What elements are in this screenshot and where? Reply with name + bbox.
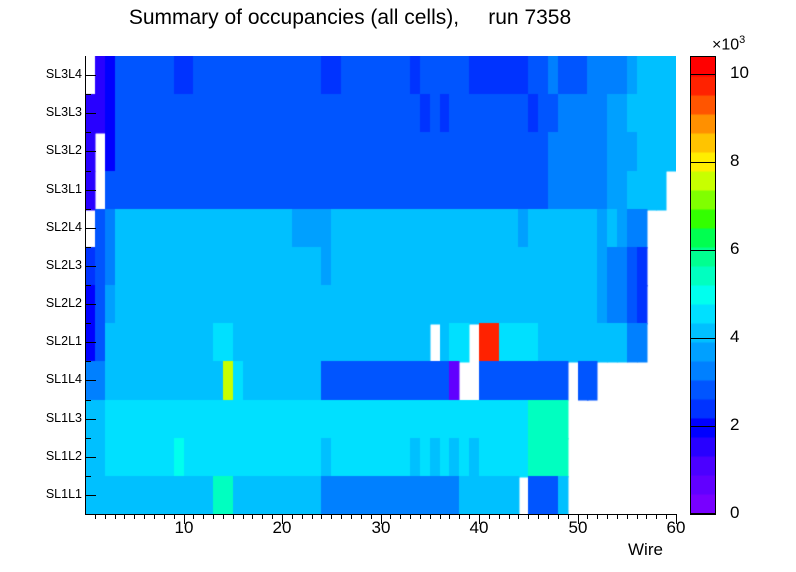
x-axis-label-30: 30 — [361, 518, 401, 538]
colorbar-tick — [690, 74, 716, 75]
y-axis-label-sl2l3: SL2L3 — [18, 258, 82, 272]
colorbar-exponent-power: 3 — [739, 34, 745, 46]
x-axis-minor-tick — [430, 514, 431, 519]
y-axis-tick — [85, 495, 96, 496]
colorbar-tick — [690, 514, 716, 515]
x-axis-minor-tick — [518, 514, 519, 519]
x-axis-minor-tick — [509, 514, 510, 519]
x-axis-minor-tick — [144, 514, 145, 519]
x-axis-label-20: 20 — [262, 518, 302, 538]
x-axis-minor-tick — [213, 514, 214, 519]
y-axis-tick — [85, 304, 96, 305]
x-axis-minor-tick — [548, 514, 549, 519]
colorbar-label-10: 10 — [730, 63, 749, 83]
x-axis-minor-tick — [646, 514, 647, 519]
y-axis-label-sl1l3: SL1L3 — [18, 411, 82, 425]
colorbar-label-4: 4 — [730, 327, 739, 347]
colorbar — [690, 56, 716, 514]
x-axis-minor-tick — [331, 514, 332, 519]
heatmap-plot-area — [85, 56, 676, 514]
y-axis-tick — [85, 190, 96, 191]
x-axis-minor-tick — [124, 514, 125, 519]
y-axis-label-sl2l1: SL2L1 — [18, 334, 82, 348]
colorbar-tick — [690, 250, 716, 251]
y-axis-label-sl1l1: SL1L1 — [18, 487, 82, 501]
y-axis-label-sl3l2: SL3L2 — [18, 143, 82, 157]
y-axis-label-sl1l2: SL1L2 — [18, 449, 82, 463]
colorbar-label-2: 2 — [730, 415, 739, 435]
y-axis-minor-tick — [85, 132, 91, 133]
x-axis-minor-tick — [627, 514, 628, 519]
x-axis-minor-tick — [440, 514, 441, 519]
colorbar-tick — [690, 162, 716, 163]
x-axis-label-50: 50 — [558, 518, 598, 538]
x-axis-minor-tick — [607, 514, 608, 519]
y-axis-label-sl2l4: SL2L4 — [18, 220, 82, 234]
x-axis-title: Wire — [628, 540, 663, 560]
page-title: Summary of occupancies (all cells), run … — [0, 6, 700, 30]
y-axis-label-sl3l4: SL3L4 — [18, 67, 82, 81]
heatmap-canvas — [85, 56, 676, 514]
y-axis-minor-tick — [85, 247, 91, 248]
x-axis-minor-tick — [252, 514, 253, 519]
colorbar-label-8: 8 — [730, 151, 739, 171]
y-axis-labels: SL3L4SL3L3SL3L2SL3L1SL2L4SL2L3SL2L2SL2L1… — [14, 0, 82, 572]
colorbar-canvas — [691, 57, 715, 513]
colorbar-label-0: 0 — [730, 503, 739, 523]
y-axis-minor-tick — [85, 438, 91, 439]
x-axis-minor-tick — [105, 514, 106, 519]
x-axis-label-10: 10 — [164, 518, 204, 538]
y-axis-tick — [85, 380, 96, 381]
x-axis-minor-tick — [449, 514, 450, 519]
x-axis-minor-tick — [302, 514, 303, 519]
y-axis-minor-tick — [85, 476, 91, 477]
x-axis-minor-tick — [233, 514, 234, 519]
y-axis-tick — [85, 151, 96, 152]
x-axis-minor-tick — [223, 514, 224, 519]
x-axis-label-60: 60 — [656, 518, 696, 538]
y-axis-minor-tick — [85, 400, 91, 401]
x-axis-minor-tick — [312, 514, 313, 519]
x-axis-minor-tick — [115, 514, 116, 519]
y-axis-label-sl2l2: SL2L2 — [18, 296, 82, 310]
y-axis-tick — [85, 342, 96, 343]
y-axis-tick — [85, 113, 96, 114]
y-axis-tick — [85, 228, 96, 229]
colorbar-tick — [690, 426, 716, 427]
y-axis-label-sl3l1: SL3L1 — [18, 182, 82, 196]
x-axis-minor-tick — [538, 514, 539, 519]
x-axis-minor-tick — [95, 514, 96, 519]
x-axis-minor-tick — [134, 514, 135, 519]
x-axis-minor-tick — [410, 514, 411, 519]
y-axis-tick — [85, 266, 96, 267]
colorbar-tick — [690, 338, 716, 339]
x-axis-minor-tick — [351, 514, 352, 519]
x-axis-minor-tick — [637, 514, 638, 519]
y-axis-tick — [85, 457, 96, 458]
x-axis-minor-tick — [420, 514, 421, 519]
y-axis-tick — [85, 75, 96, 76]
y-axis-label-sl3l3: SL3L3 — [18, 105, 82, 119]
x-axis-minor-tick — [341, 514, 342, 519]
y-axis-minor-tick — [85, 209, 91, 210]
y-axis-minor-tick — [85, 171, 91, 172]
colorbar-label-6: 6 — [730, 239, 739, 259]
x-axis-minor-tick — [321, 514, 322, 519]
y-axis-minor-tick — [85, 285, 91, 286]
x-axis-minor-tick — [154, 514, 155, 519]
x-axis-minor-tick — [528, 514, 529, 519]
x-axis-minor-tick — [243, 514, 244, 519]
x-axis-minor-tick — [499, 514, 500, 519]
y-axis-minor-tick — [85, 361, 91, 362]
y-axis-minor-tick — [85, 94, 91, 95]
x-axis-minor-tick — [617, 514, 618, 519]
colorbar-exponent: ×103 — [712, 34, 745, 54]
y-axis-tick — [85, 419, 96, 420]
colorbar-exponent-base: ×10 — [712, 36, 739, 53]
y-axis-label-sl1l4: SL1L4 — [18, 372, 82, 386]
x-axis-label-40: 40 — [459, 518, 499, 538]
y-axis-minor-tick — [85, 323, 91, 324]
